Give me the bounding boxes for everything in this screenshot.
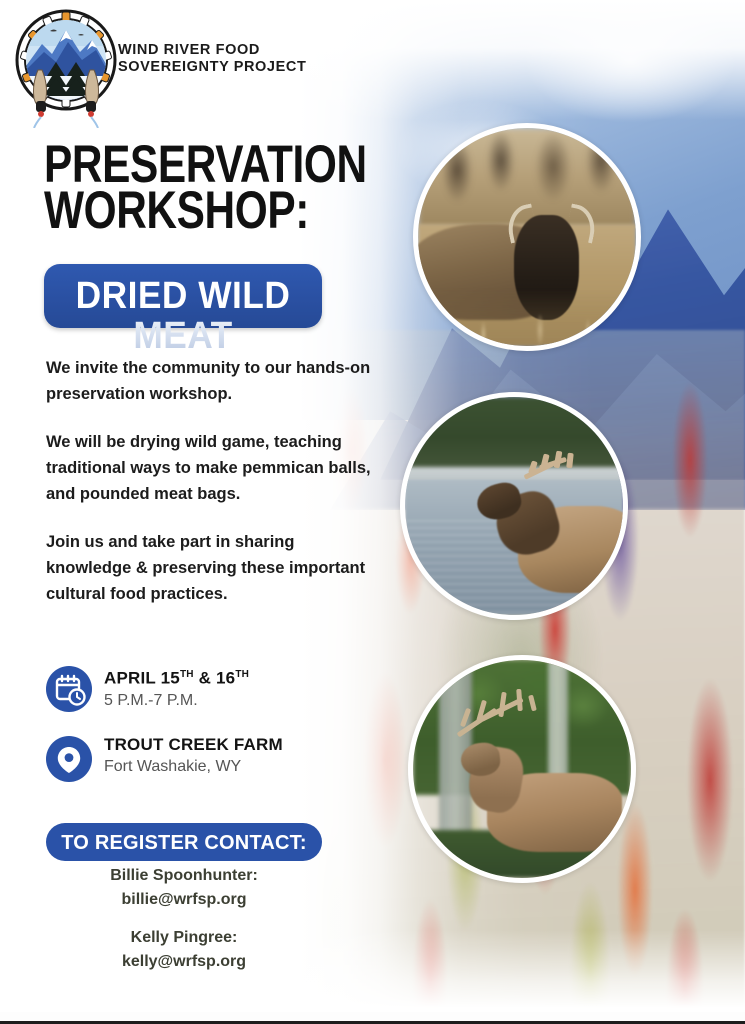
wind-river-medallion-icon — [12, 4, 120, 128]
deer-photo — [408, 655, 636, 883]
event-venue-label: TROUT CREEK FARM — [104, 734, 283, 756]
calendar-clock-icon — [46, 666, 92, 712]
contact-list: Billie Spoonhunter: billie@wrfsp.org Kel… — [46, 864, 322, 988]
poster-canvas: WIND RIVER FOOD SOVEREIGNTY PROJECT PRES… — [0, 0, 745, 1024]
event-location-row: TROUT CREEK FARM Fort Washakie, WY — [46, 734, 376, 790]
bottom-band — [0, 1012, 745, 1024]
event-date-middle: & 16 — [194, 669, 236, 688]
contact-email[interactable]: kelly@wrfsp.org — [46, 950, 322, 974]
register-badge-label: TO REGISTER CONTACT: — [46, 832, 322, 855]
elk-antlers — [518, 445, 588, 497]
event-date-label: APRIL 15TH & 16TH — [104, 664, 249, 690]
event-date-sup-2: TH — [235, 669, 249, 680]
paragraph-1: We invite the community to our hands-on … — [46, 355, 376, 407]
contact-email[interactable]: billie@wrfsp.org — [46, 888, 322, 912]
organization-name-line2: SOVEREIGNTY PROJECT — [118, 59, 348, 76]
contact-name: Kelly Pingree: — [46, 926, 322, 950]
page-title: PRESERVATION WORKSHOP: — [44, 142, 374, 234]
elk-photo — [400, 392, 628, 620]
organization-name-line1: WIND RIVER FOOD — [118, 42, 348, 59]
event-city-label: Fort Washakie, WY — [104, 756, 283, 778]
register-badge: TO REGISTER CONTACT: — [46, 823, 322, 861]
event-date-prefix: APRIL 15 — [104, 669, 180, 688]
subject-badge: DRIED WILD MEAT — [44, 264, 322, 328]
paragraph-2: We will be drying wild game, teaching tr… — [46, 429, 376, 507]
event-date-row: APRIL 15TH & 16TH 5 P.M.-7 P.M. — [46, 664, 376, 720]
title-line-2: WORKSHOP: — [44, 188, 308, 234]
event-time-label: 5 P.M.-7 P.M. — [104, 690, 249, 712]
event-date-sup-1: TH — [180, 669, 194, 680]
map-pin-icon — [46, 736, 92, 782]
poster-header: WIND RIVER FOOD SOVEREIGNTY PROJECT — [0, 0, 420, 130]
bison-photo — [413, 123, 641, 351]
paragraph-3: Join us and take part in sharing knowled… — [46, 529, 376, 607]
subject-badge-label: DRIED WILD MEAT — [54, 276, 313, 356]
organization-name: WIND RIVER FOOD SOVEREIGNTY PROJECT — [118, 42, 348, 76]
body-copy: We invite the community to our hands-on … — [46, 355, 376, 629]
deer-antlers — [452, 682, 557, 756]
contact-name: Billie Spoonhunter: — [46, 864, 322, 888]
